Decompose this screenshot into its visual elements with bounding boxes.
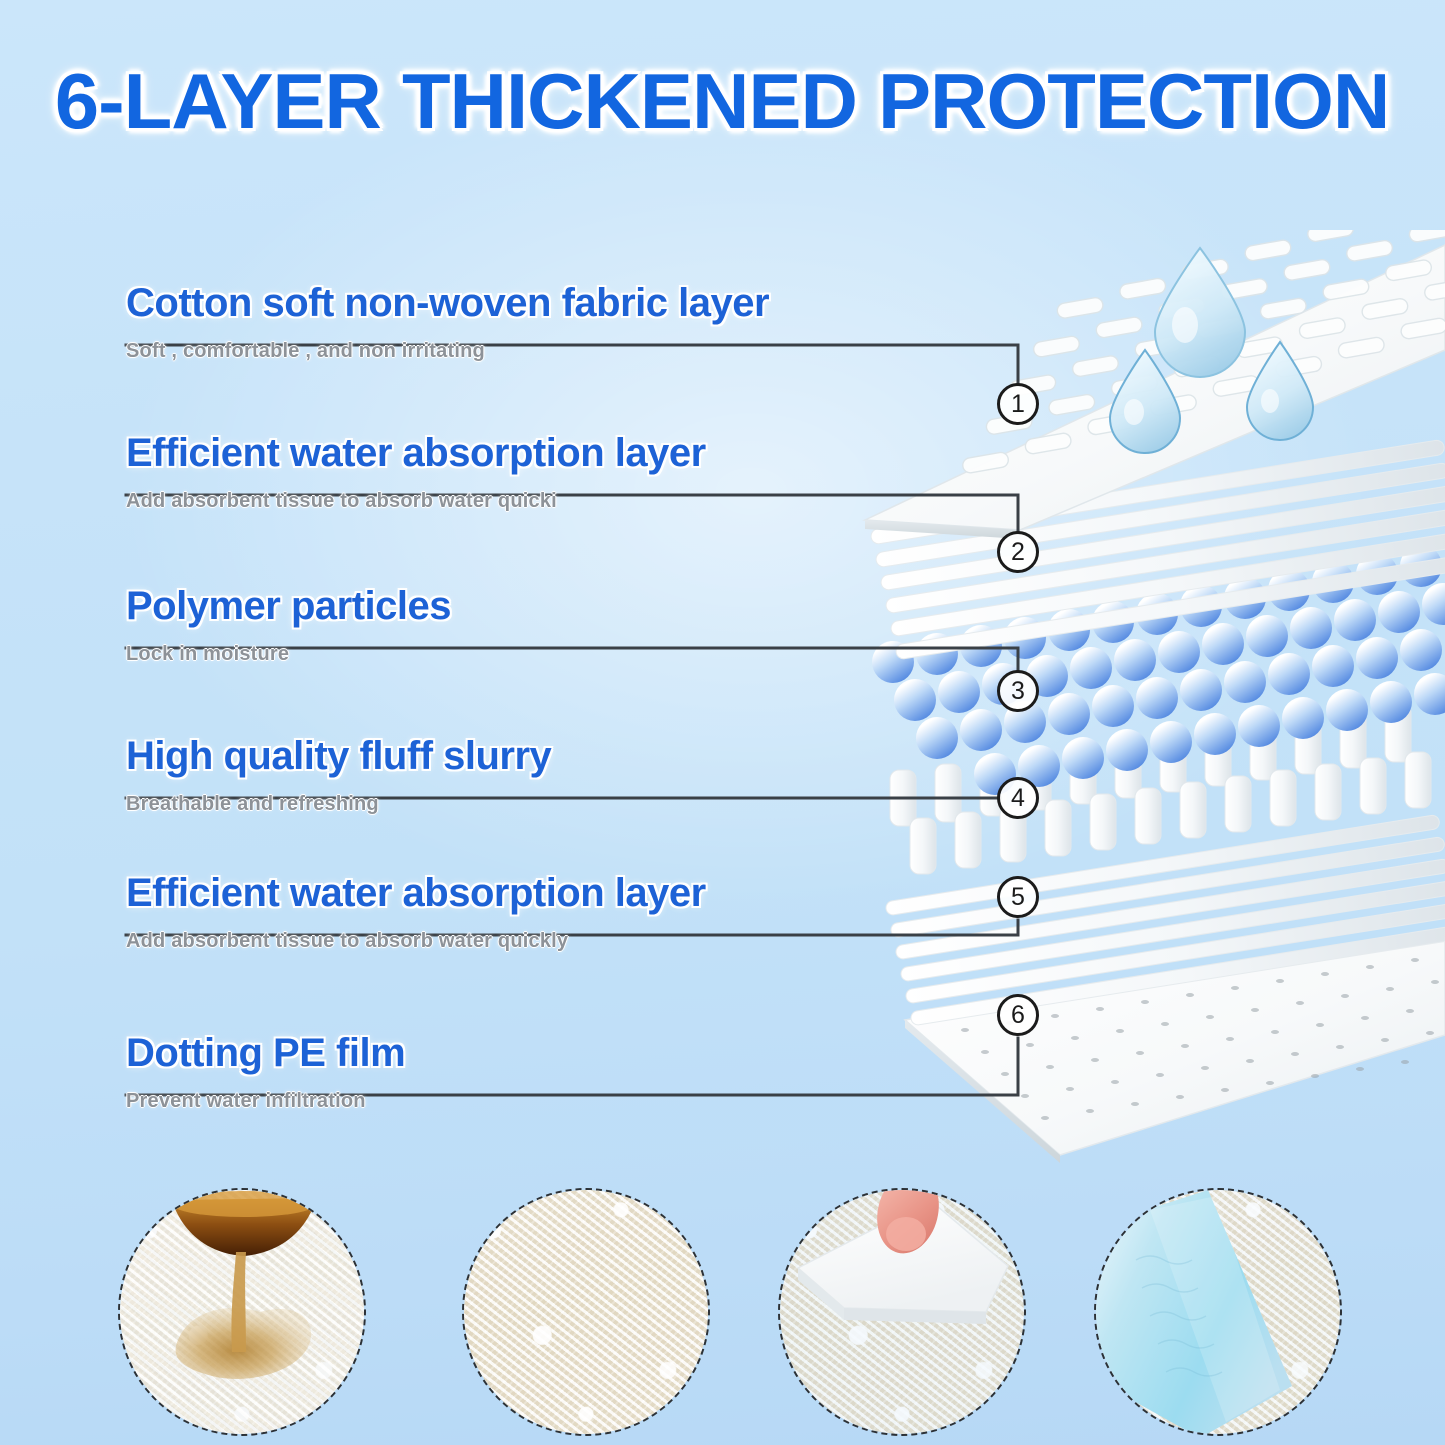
- page-title-container: 6-LAYER THICKENED PROTECTION: [0, 56, 1445, 147]
- layer-callout-1: Cotton soft non-woven fabric layer Soft …: [126, 282, 1026, 363]
- layer-number-badge-4: 4: [997, 777, 1039, 819]
- product-infographic: 6-LAYER THICKENED PROTECTION: [0, 0, 1445, 1445]
- layer-number-badge-6: 6: [997, 994, 1039, 1036]
- layer-callout-6: Dotting PE film Prevent water infiltrati…: [126, 1032, 1026, 1113]
- layer-callout-3: Polymer particles Lock in moisture: [126, 585, 1026, 666]
- blue-film-photo: [1094, 1188, 1342, 1436]
- layer-2-subtitle: Add absorbent tissue to absorb water qui…: [126, 490, 1026, 513]
- layer-2-title: Efficient water absorption layer: [126, 432, 1026, 474]
- layer-5-title: Efficient water absorption layer: [126, 872, 1026, 914]
- layer-1-title: Cotton soft non-woven fabric layer: [126, 282, 1026, 324]
- liquid-absorption-photo: [118, 1188, 366, 1436]
- layer-number-badge-3: 3: [997, 670, 1039, 712]
- finger-press-photo: [778, 1188, 1026, 1436]
- layer-3-title: Polymer particles: [126, 585, 1026, 627]
- layer-callout-4: High quality fluff slurry Breathable and…: [126, 735, 1026, 816]
- fluff-texture-photo: [462, 1188, 710, 1436]
- product-photo-row: [0, 1180, 1445, 1445]
- layer-1-subtitle: Soft , comfortable , and non irritating: [126, 340, 1026, 363]
- layer-number-badge-1: 1: [997, 383, 1039, 425]
- exploded-layer-illustration: [845, 230, 1445, 1170]
- layer-3-subtitle: Lock in moisture: [126, 643, 1026, 666]
- layer-4-subtitle: Breathable and refreshing: [126, 793, 1026, 816]
- layer-6-subtitle: Prevent water infiltration: [126, 1090, 1026, 1113]
- layer-6-title: Dotting PE film: [126, 1032, 1026, 1074]
- page-title: 6-LAYER THICKENED PROTECTION: [55, 56, 1389, 147]
- layer-5-subtitle: Add absorbent tissue to absorb water qui…: [126, 930, 1026, 953]
- layer-callout-5: Efficient water absorption layer Add abs…: [126, 872, 1026, 953]
- layer-callout-2: Efficient water absorption layer Add abs…: [126, 432, 1026, 513]
- layer-number-badge-2: 2: [997, 531, 1039, 573]
- layer-4-title: High quality fluff slurry: [126, 735, 1026, 777]
- layer-stack-svg: [845, 230, 1445, 1170]
- layer-number-badge-5: 5: [997, 876, 1039, 918]
